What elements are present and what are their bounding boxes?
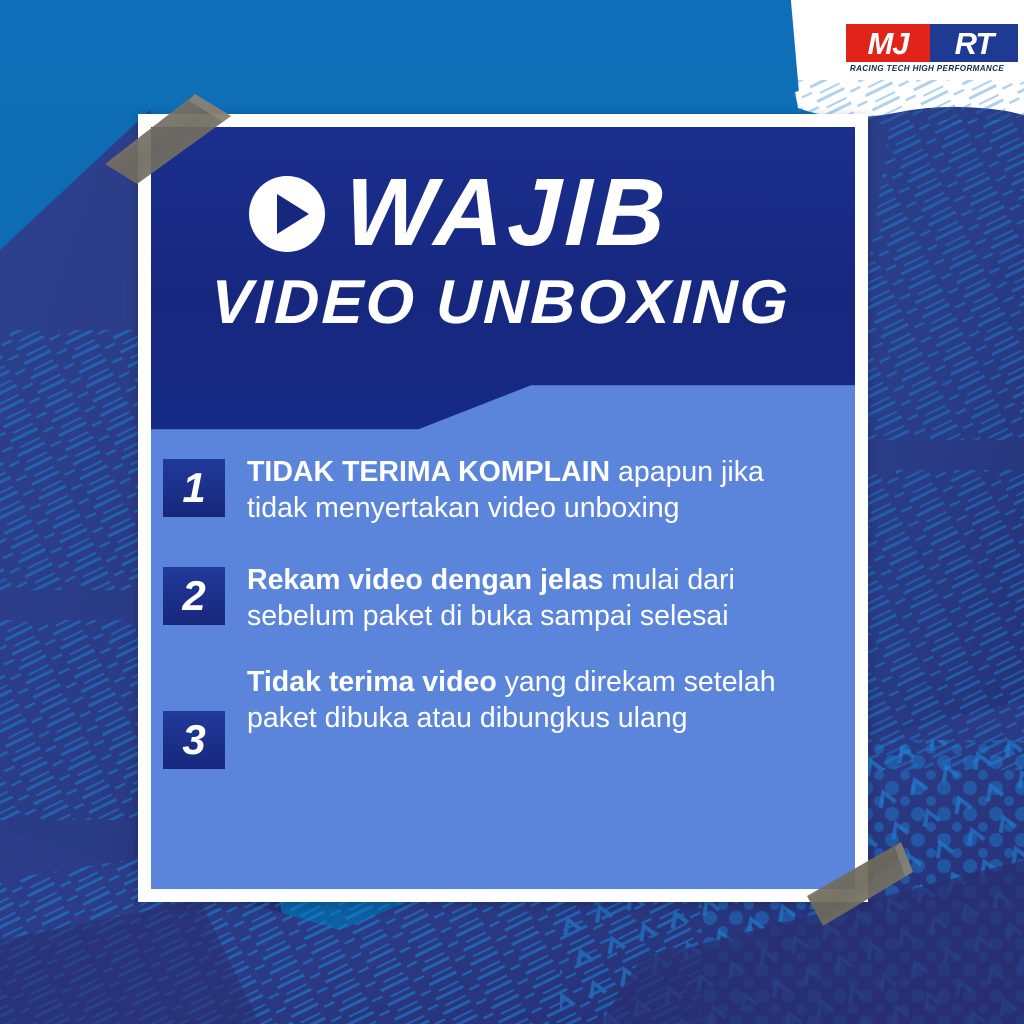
rule-text-bold: TIDAK TERIMA KOMPLAIN bbox=[247, 456, 610, 488]
play-circle-icon bbox=[247, 174, 327, 254]
title-row: WAJIB bbox=[247, 169, 669, 257]
list-item: 2 Rekam video dengan jelas mulai dari se… bbox=[163, 555, 827, 635]
logo-marks: MJ RT bbox=[846, 24, 1008, 62]
tape-strip-bottom-right-icon bbox=[805, 838, 915, 930]
rule-text-bold: Tidak terima video bbox=[247, 666, 497, 698]
tape-strip-top-left-icon bbox=[103, 92, 233, 188]
rule-text: TIDAK TERIMA KOMPLAIN apapun jika tidak … bbox=[247, 447, 827, 527]
poster-card: WAJIB VIDEO UNBOXING 1 TIDAK TERIMA KOMP… bbox=[138, 114, 868, 902]
poster-title-block: WAJIB VIDEO UNBOXING bbox=[151, 127, 855, 377]
rule-text-bold: Rekam video dengan jelas bbox=[247, 564, 603, 596]
rule-text: Tidak terima video yang direkam setelah … bbox=[247, 663, 827, 737]
poster-inner: WAJIB VIDEO UNBOXING 1 TIDAK TERIMA KOMP… bbox=[151, 127, 855, 889]
page-subtitle: VIDEO UNBOXING bbox=[210, 267, 792, 338]
brand-logo: MJ RT RACING TECH HIGH PERFORMANCE bbox=[846, 24, 1008, 80]
logo-rt: RT bbox=[930, 24, 1018, 62]
page-title: WAJIB bbox=[343, 169, 670, 257]
list-item: 1 TIDAK TERIMA KOMPLAIN apapun jika tida… bbox=[163, 447, 827, 527]
logo-tagline: RACING TECH HIGH PERFORMANCE bbox=[846, 64, 1008, 73]
rule-number-badge: 2 bbox=[163, 567, 225, 625]
logo-mj: MJ bbox=[846, 24, 930, 62]
rule-number-badge: 1 bbox=[163, 459, 225, 517]
rules-list: 1 TIDAK TERIMA KOMPLAIN apapun jika tida… bbox=[163, 447, 827, 769]
rule-number-badge: 3 bbox=[163, 711, 225, 769]
list-item: 3 Tidak terima video yang direkam setela… bbox=[163, 663, 827, 769]
rule-text: Rekam video dengan jelas mulai dari sebe… bbox=[247, 555, 827, 635]
